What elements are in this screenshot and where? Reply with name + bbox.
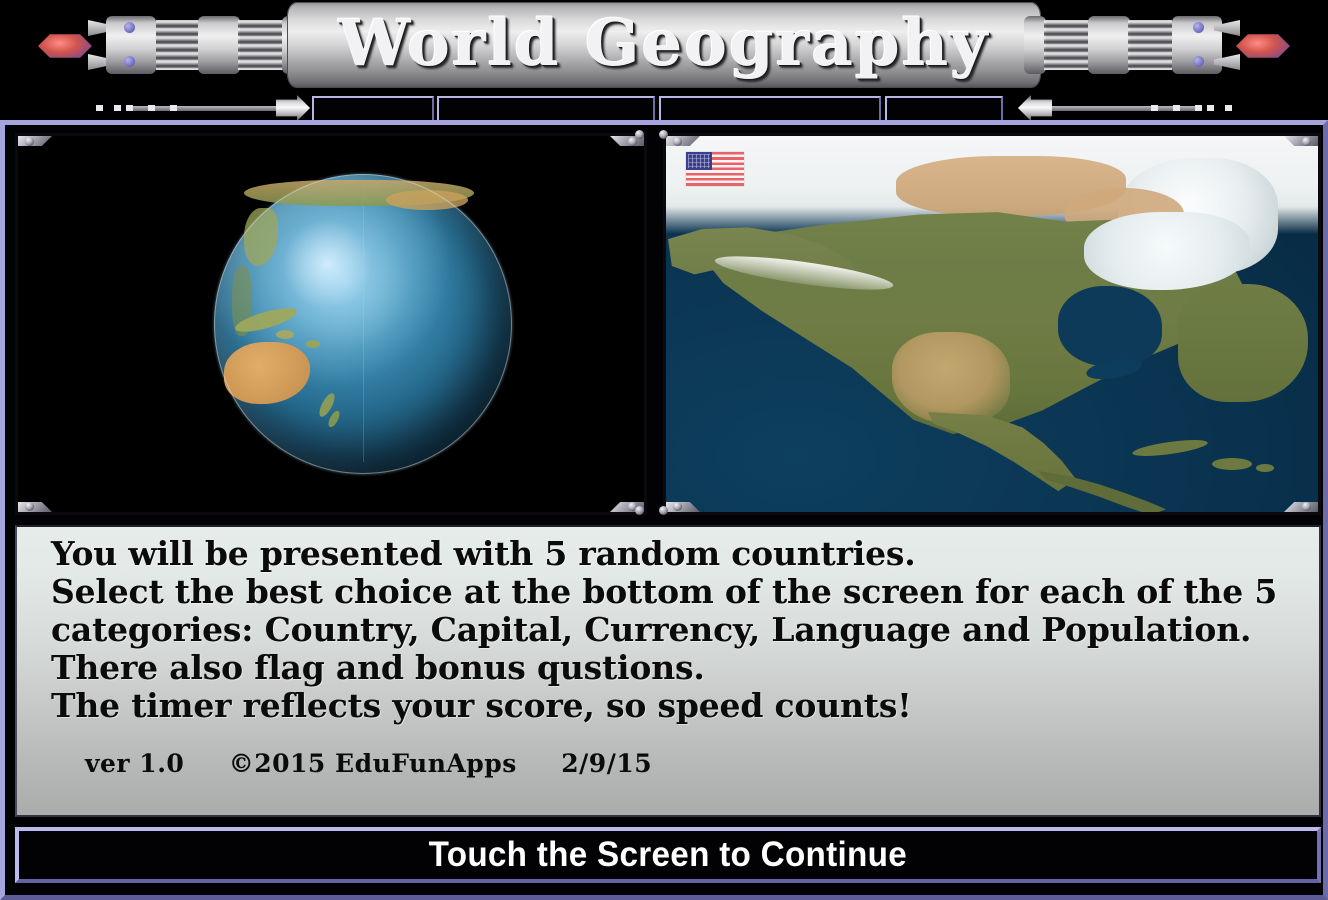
globe-land-australia (224, 342, 310, 404)
panel-screw-br (1302, 502, 1311, 511)
banner-ridge-right-1 (1128, 20, 1172, 70)
banner-bolt-right-2 (1088, 16, 1130, 74)
map-land-puerto-rico (1256, 464, 1274, 472)
map-land-labrador (1178, 284, 1308, 402)
title-banner: World Geography (0, 0, 1328, 88)
divider-screw-bottom-left (635, 506, 644, 515)
globe-land-island-1 (276, 330, 294, 339)
banner-bolt-right-3 (1024, 16, 1046, 74)
version-line: ver 1.0 ©2015 EduFunApps 2/9/15 (85, 749, 652, 778)
globe-land-ne (386, 190, 468, 210)
panel-corner-bracket-tl (18, 136, 52, 146)
globe-land-newzealand-2 (326, 409, 342, 429)
instruction-line-2: Select the best choice at the bottom of … (51, 573, 1301, 611)
map-land-rockies (892, 332, 1010, 424)
instructions-panel: You will be presented with 5 random coun… (15, 525, 1321, 817)
panel-screw-tr (1302, 137, 1311, 146)
banner-dot-right-bottom (1193, 56, 1204, 67)
main-frame: You will be presented with 5 random coun… (0, 120, 1328, 900)
panel-screw-bl (673, 502, 682, 511)
instruction-line-3: categories: Country, Capital, Currency, … (51, 611, 1301, 649)
panel-screw-tl (25, 137, 34, 146)
build-date-label: 2/9/15 (561, 749, 652, 778)
title-plate: World Geography (287, 2, 1041, 88)
map-water-hudson-bay (1058, 286, 1162, 366)
divider-screw-top-right (659, 130, 668, 139)
version-label: ver 1.0 (85, 749, 184, 778)
copyright-label: ©2015 EduFunApps (229, 749, 517, 778)
banner-dot-left-bottom (124, 56, 135, 67)
panel-corner-bracket-bl (18, 502, 52, 512)
banner-ridge-right-2 (1044, 20, 1090, 70)
divider-screw-bottom-right (659, 506, 668, 515)
app-root: World Geography (0, 0, 1328, 900)
panel-screw-tl (673, 137, 682, 146)
divider-screw-top-left (635, 130, 644, 139)
panel-screw-bl (25, 502, 34, 511)
banner-gem-left (38, 32, 92, 60)
banner-bolt-left-2 (198, 16, 240, 74)
touch-to-continue-button[interactable]: Touch the Screen to Continue (15, 827, 1321, 883)
globe-meridian (363, 186, 364, 462)
banner-gem-right (1236, 32, 1290, 60)
banner-ridge-left-2 (238, 20, 284, 70)
banner-dot-left-top (124, 22, 135, 33)
panel-screw-tr (628, 137, 637, 146)
map-land-hispaniola (1212, 458, 1252, 470)
us-flag-icon (686, 152, 744, 186)
instructions-text: You will be presented with 5 random coun… (51, 535, 1301, 725)
instruction-line-5: The timer reflects your score, so speed … (51, 687, 1301, 725)
flag-stars (688, 154, 710, 168)
flag-canton (686, 152, 712, 170)
touch-to-continue-label: Touch the Screen to Continue (429, 835, 907, 875)
earth-globe-icon (214, 174, 512, 474)
banner-ornament-left (38, 6, 296, 84)
banner-dot-right-top (1193, 22, 1204, 33)
banner-ridge-left-1 (156, 20, 200, 70)
globe-land-nw (244, 208, 278, 266)
page-title: World Geography (287, 2, 1041, 88)
banner-ornament-right (1032, 6, 1290, 84)
instruction-line-1: You will be presented with 5 random coun… (51, 535, 1301, 573)
instruction-line-4: There also flag and bonus qustions. (51, 649, 1301, 687)
country-map-display[interactable] (663, 133, 1321, 515)
globe-display[interactable] (15, 133, 647, 515)
globe-land-island-2 (306, 340, 320, 348)
